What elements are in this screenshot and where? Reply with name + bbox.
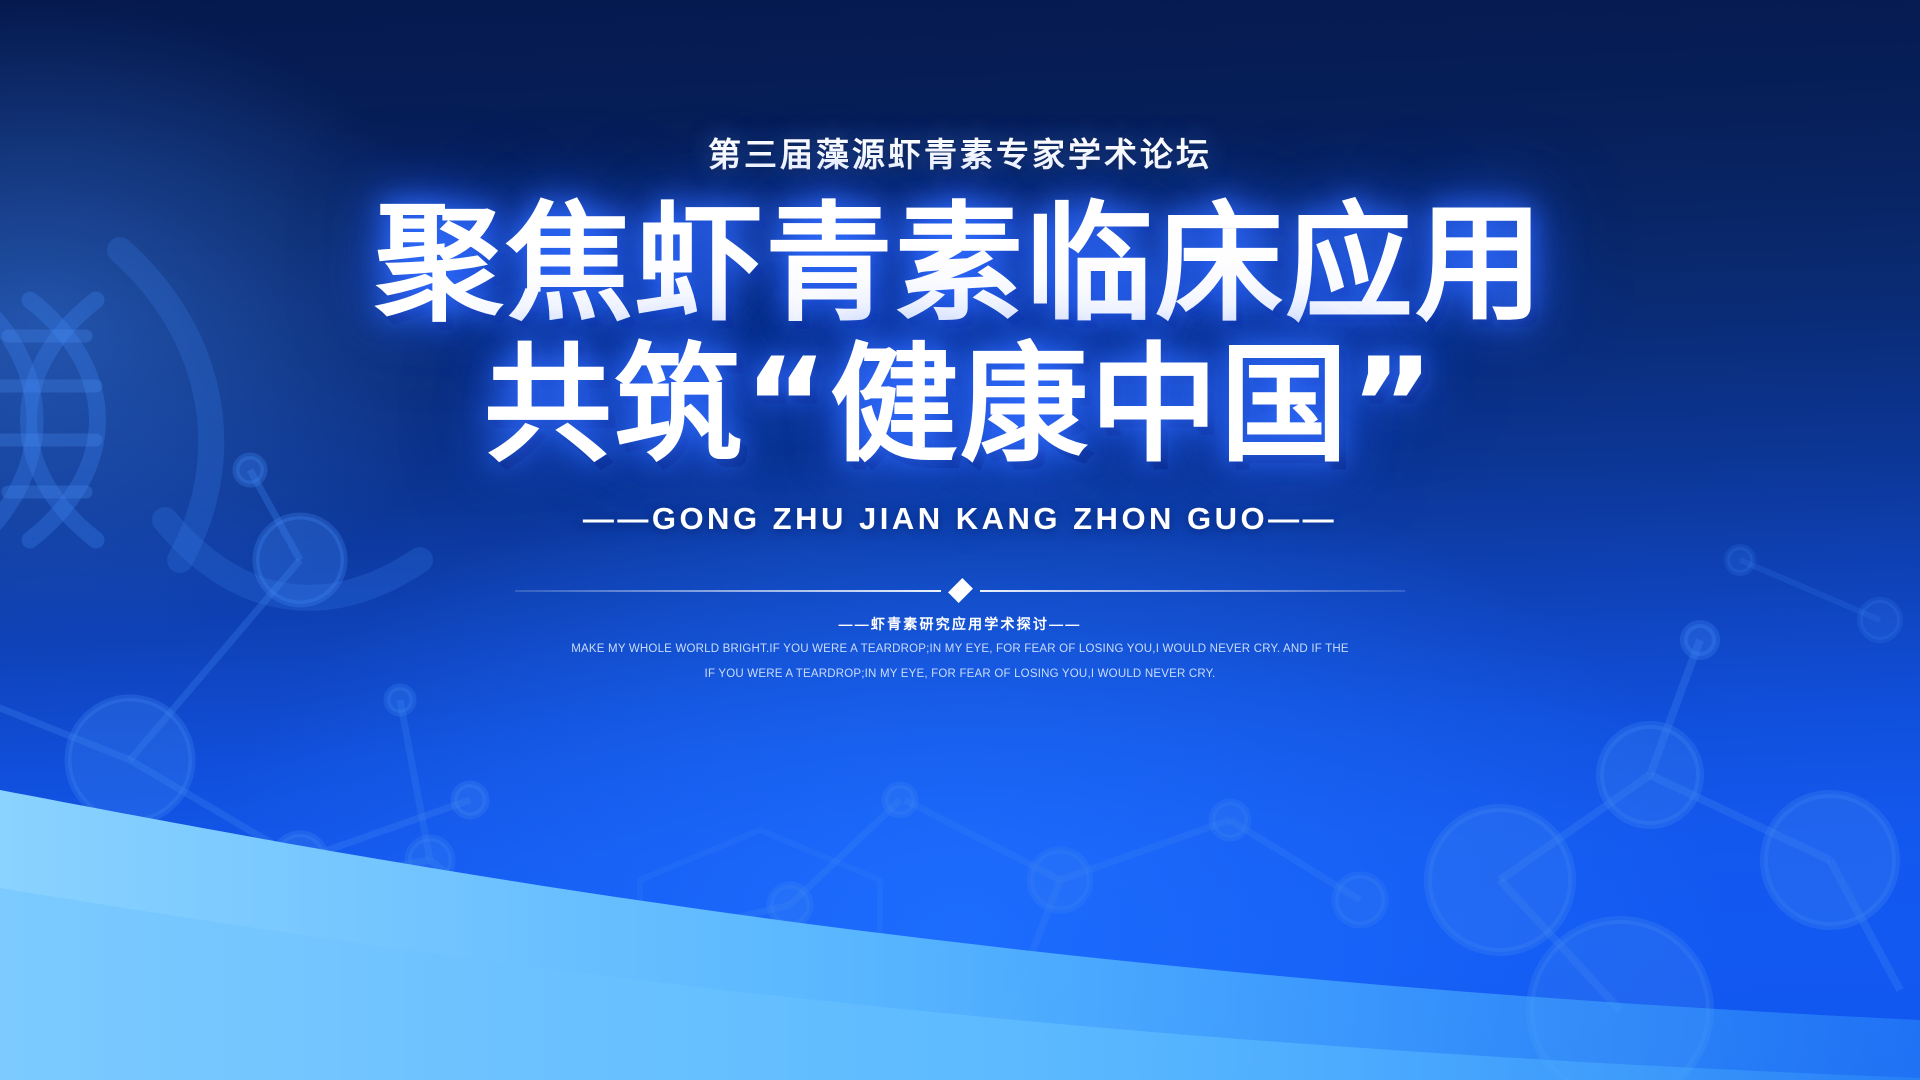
diamond-icon bbox=[948, 578, 973, 603]
main-title-block: 聚焦虾青素临床应用 共筑“健康中国” bbox=[375, 200, 1545, 471]
main-title-line-1: 聚焦虾青素临床应用 bbox=[375, 200, 1545, 331]
poster-canvas: 第三届藻源虾青素专家学术论坛 聚焦虾青素临床应用 共筑“健康中国” ——GONG… bbox=[0, 0, 1920, 1080]
poster-content: 第三届藻源虾青素专家学术论坛 聚焦虾青素临床应用 共筑“健康中国” ——GONG… bbox=[0, 0, 1920, 1080]
divider-rule-right bbox=[980, 590, 1406, 592]
forum-eyebrow-title: 第三届藻源虾青素专家学术论坛 bbox=[708, 128, 1212, 176]
main-title-line-2: 共筑“健康中国” bbox=[375, 341, 1545, 472]
fineprint-chinese-line: ——虾青素研究应用学术探讨—— bbox=[571, 614, 1348, 634]
divider-rule-left bbox=[515, 590, 941, 592]
fineprint-english-line-2: IF YOU WERE A TEARDROP;IN MY EYE, FOR FE… bbox=[571, 666, 1348, 684]
fineprint-english-line-1: MAKE MY WHOLE WORLD BRIGHT.IF YOU WERE A… bbox=[571, 641, 1348, 659]
pinyin-subtitle: ——GONG ZHU JIAN KANG ZHON GUO—— bbox=[583, 501, 1337, 537]
ornamental-divider bbox=[515, 583, 1405, 598]
fineprint-block: ——虾青素研究应用学术探讨—— MAKE MY WHOLE WORLD BRIG… bbox=[571, 614, 1348, 684]
